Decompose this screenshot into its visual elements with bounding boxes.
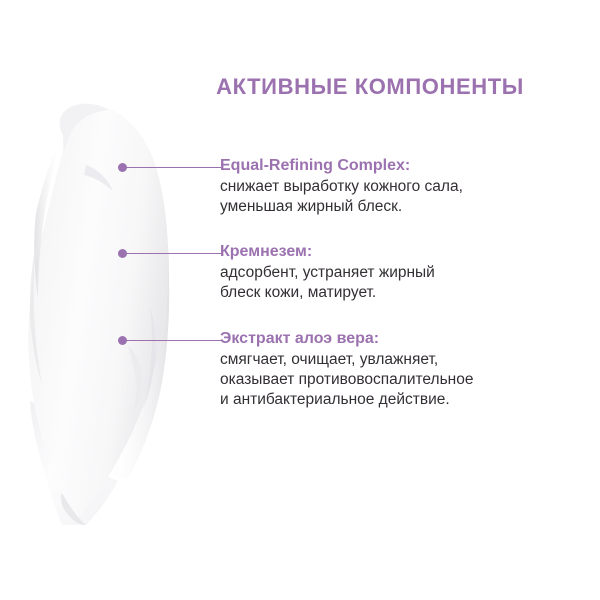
component-body-line: и антибактериальное действие. bbox=[220, 390, 560, 410]
component-block-equal-refining-complex: Equal-Refining Complex: снижает выработк… bbox=[220, 156, 560, 217]
component-body-line: оказывает противовоспалительное bbox=[220, 370, 560, 390]
connector-kremnezem bbox=[118, 249, 222, 259]
leader-line bbox=[126, 253, 222, 254]
component-body-line: блеск кожи, матирует. bbox=[220, 283, 560, 303]
cream-swatch-image bbox=[0, 95, 200, 525]
component-heading: Кремнезем: bbox=[220, 242, 560, 262]
page-title: АКТИВНЫЕ КОМПОНЕНТЫ bbox=[170, 74, 570, 100]
leader-line bbox=[126, 167, 222, 168]
component-body-line: смягчает, очищает, увлажняет, bbox=[220, 350, 560, 370]
component-block-ekstrakt-aloe-vera: Экстракт алоэ вера: смягчает, очищает, у… bbox=[220, 329, 560, 410]
connector-ekstrakt-aloe-vera bbox=[118, 336, 222, 346]
active-components-infographic: АКТИВНЫЕ КОМПОНЕНТЫ bbox=[0, 0, 600, 600]
component-body-line: адсорбент, устраняет жирный bbox=[220, 263, 560, 283]
component-heading: Экстракт алоэ вера: bbox=[220, 329, 560, 349]
component-block-kremnezem: Кремнезем: адсорбент, устраняет жирный б… bbox=[220, 242, 560, 303]
component-heading: Equal-Refining Complex: bbox=[220, 156, 560, 176]
connector-equal-refining-complex bbox=[118, 163, 222, 173]
component-body-line: снижает выработку кожного сала, bbox=[220, 177, 560, 197]
component-body-line: уменьшая жирный блеск. bbox=[220, 197, 560, 217]
leader-line bbox=[126, 340, 222, 341]
